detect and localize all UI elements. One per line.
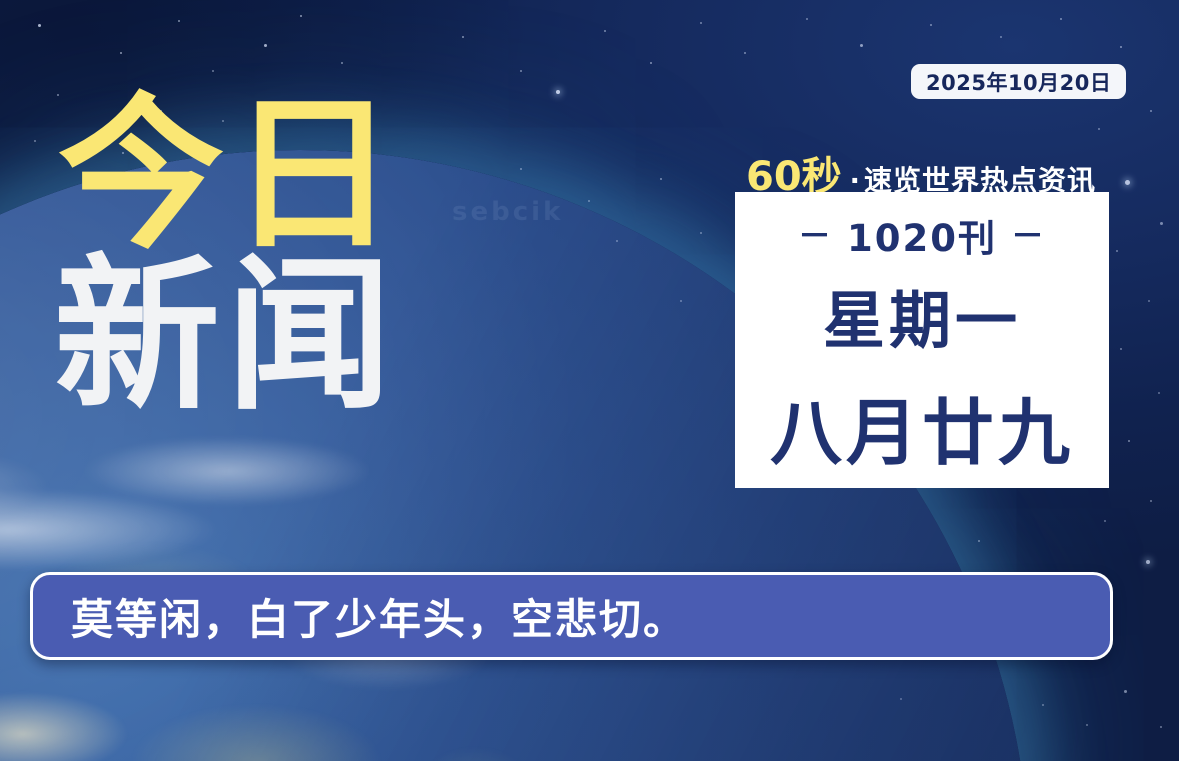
weekday-label: 星期一 bbox=[823, 270, 1021, 360]
masthead-line-news: 新闻 bbox=[54, 257, 402, 416]
issue-number-row: － 1020刊 － bbox=[798, 208, 1046, 262]
masthead-line-today: 今日 bbox=[58, 96, 402, 255]
date-badge: 2025年10月20日 bbox=[911, 64, 1126, 99]
page-title: 今日 新闻 bbox=[58, 96, 402, 417]
issue-number: 1020刊 bbox=[847, 208, 997, 262]
date-badge-label: 2025年10月20日 bbox=[926, 67, 1111, 97]
lunar-date-label: 八月廿九 bbox=[770, 374, 1074, 479]
quote-text: 莫等闲，白了少年头，空悲切。 bbox=[71, 586, 687, 647]
issue-info-card: － 1020刊 － 星期一 八月廿九 bbox=[735, 192, 1109, 488]
dash-left: － bbox=[798, 219, 833, 252]
news-poster: sebcik 今日 新闻 2025年10月20日 60秒 · 速览世界热点资讯 … bbox=[0, 0, 1179, 761]
quote-banner: 莫等闲，白了少年头，空悲切。 bbox=[30, 572, 1113, 660]
watermark-text: sebcik bbox=[452, 197, 563, 227]
dash-right: － bbox=[1011, 219, 1046, 252]
